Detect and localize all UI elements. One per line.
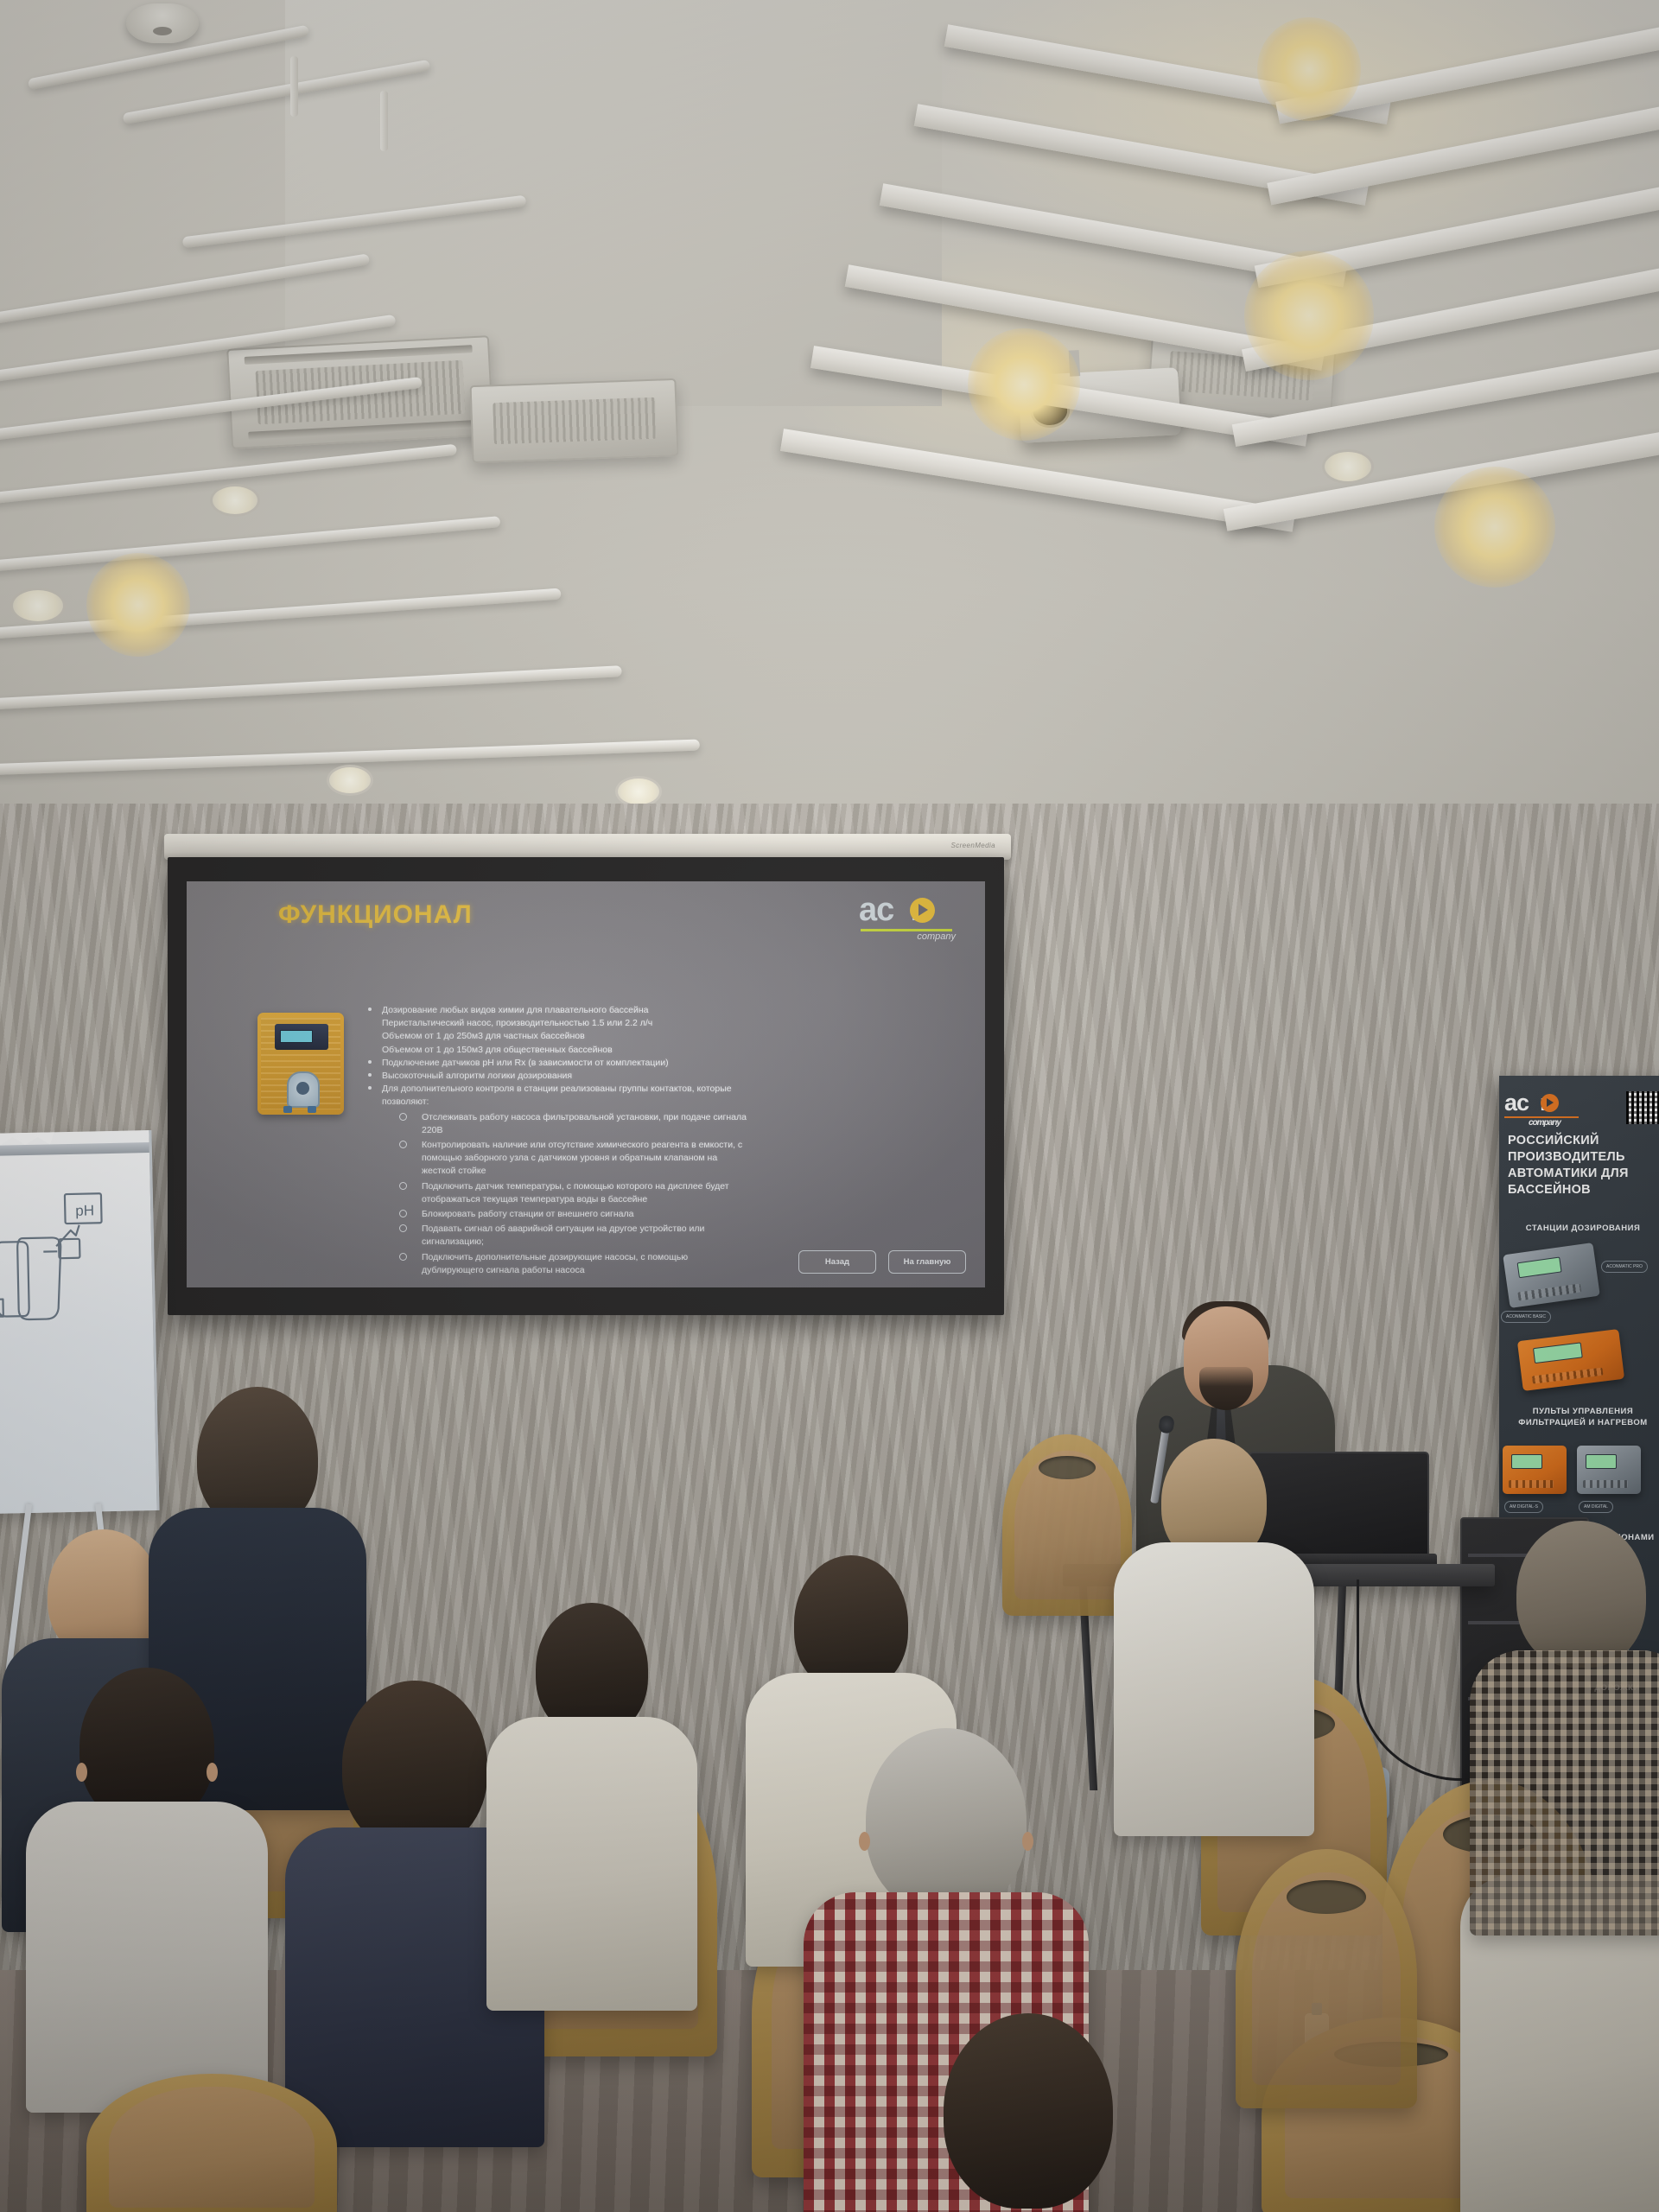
flipchart: pH	[0, 1130, 160, 1514]
slide-home-button[interactable]: На главную	[888, 1250, 966, 1274]
ceiling	[0, 0, 1659, 864]
ceiling-spotlight	[1244, 251, 1374, 380]
audience-ear	[1022, 1832, 1033, 1851]
slide-bullet-line: Отслеживать работу насоса фильтровальной…	[422, 1111, 961, 1124]
product-display	[1586, 1454, 1617, 1469]
bullet-circle-icon	[399, 1113, 407, 1121]
acon-logo: ac n company	[859, 893, 956, 942]
slide-bullet-line: 220В	[422, 1124, 961, 1137]
product-display	[1533, 1343, 1583, 1363]
slide-bullet-line: Для дополнительного контроля в станции р…	[382, 1083, 961, 1096]
bullet-circle-icon	[399, 1141, 407, 1148]
screen-frame: ФУНКЦИОНАЛ ac n company Дозирование любы…	[168, 857, 1004, 1315]
recessed-downlight	[10, 588, 66, 624]
ceiling-ribbon	[1267, 104, 1659, 205]
banner-logo-play-icon	[1541, 1094, 1559, 1112]
ceiling-slat-post	[290, 56, 298, 117]
product-buttons	[1583, 1480, 1628, 1488]
recessed-downlight	[615, 776, 662, 807]
recessed-downlight	[1322, 449, 1374, 484]
slide-bullet-line: Блокировать работу станции от внешнего с…	[422, 1208, 961, 1221]
slide-bullet-line: Подавать сигнал об аварийной ситуации на…	[422, 1223, 961, 1236]
bullet-disc-icon	[368, 1060, 372, 1064]
audience-ear	[859, 1832, 870, 1851]
slide-bullet-line: позволяют:	[382, 1096, 961, 1109]
audience-body	[26, 1802, 268, 2113]
slide-bullet-line: Контролировать наличие или отсутствие хи…	[422, 1139, 961, 1152]
chair-back-cutout	[1287, 1880, 1366, 1914]
peristaltic-pump-icon	[287, 1071, 320, 1108]
slide-bullet-line: Подключение датчиков pH или Rx (в зависи…	[382, 1057, 961, 1070]
banner-product-am-digital	[1577, 1446, 1641, 1494]
audience-head	[944, 2013, 1113, 2209]
flipchart-sketch: pH	[0, 1182, 156, 1471]
screen-roller-casing: ScreenMedia	[164, 834, 1011, 860]
ceiling-slat	[0, 588, 562, 642]
bullet-disc-icon	[368, 1007, 372, 1011]
device-lcd-display	[280, 1030, 313, 1043]
audience-head	[866, 1728, 1027, 1913]
slide-bullet-line: Объемом от 1 до 150м3 для общественных б…	[382, 1044, 961, 1057]
slide-bullet-line: Высокоточный алгоритм логики дозирования	[382, 1070, 961, 1083]
product-buttons	[1517, 1283, 1581, 1300]
presentation-slide: ФУНКЦИОНАЛ ac n company Дозирование любы…	[187, 881, 985, 1287]
banner-product-controller	[1517, 1329, 1624, 1391]
audience-body	[1470, 1650, 1659, 1935]
product-display	[1516, 1257, 1561, 1279]
projection-screen: ScreenMedia ФУНКЦИОНАЛ ac n company	[164, 834, 1011, 1322]
ceiling-spotlight	[1257, 17, 1361, 121]
bullet-circle-icon	[399, 1182, 407, 1190]
device-port	[283, 1106, 292, 1113]
audience-member	[26, 1668, 268, 2100]
slide-bullet: Подключение датчиков pH или Rx (в зависи…	[365, 1057, 961, 1070]
banner-logo-tagline: company	[1529, 1118, 1560, 1128]
ceiling-spotlight	[86, 553, 190, 657]
audience-head	[342, 1681, 487, 1850]
banner-logo: ac n company	[1504, 1090, 1554, 1116]
slide-bullet-line: Объемом от 1 до 250м3 для частных бассей…	[382, 1030, 961, 1043]
ceiling-spotlight	[968, 328, 1080, 441]
slide-back-button[interactable]: Назад	[798, 1250, 876, 1274]
slide-sub-bullet: Контролировать наличие или отсутствие хи…	[365, 1139, 961, 1179]
screen-brand-label: ScreenMedia	[950, 842, 995, 849]
banner-headline-line1: РОССИЙСКИЙ ПРОИЗВОДИТЕЛЬ	[1508, 1133, 1659, 1166]
qr-code-icon	[1626, 1091, 1659, 1124]
banner-chip-am-digital: АМ DIGITAL	[1579, 1501, 1613, 1513]
banner-product-dosing	[1503, 1243, 1600, 1308]
acon-logo-play-icon	[910, 898, 935, 923]
banner-headline-line2: АВТОМАТИКИ ДЛЯ БАССЕЙНОВ	[1508, 1166, 1659, 1198]
slide-nav-buttons: Назад На главную	[798, 1250, 966, 1274]
audience-head	[794, 1555, 908, 1692]
slide-bullet: Высокоточный алгоритм логики дозирования	[365, 1070, 961, 1083]
slide-bullet-list: Дозирование любых видов химии для плават…	[365, 1004, 961, 1277]
audience-member	[484, 1603, 700, 2009]
audience-body	[1114, 1542, 1314, 1836]
ceiling-slat-post	[380, 91, 388, 151]
slide-bullet: Дозирование любых видов химии для плават…	[365, 1004, 961, 1057]
recessed-downlight	[210, 484, 260, 517]
chair	[86, 2074, 337, 2212]
device-port	[308, 1106, 316, 1113]
slide-sub-bullet: Блокировать работу станции от внешнего с…	[365, 1208, 961, 1221]
acon-logo-tagline: company	[917, 931, 956, 942]
slide-bullet-line: жесткой стойке	[422, 1165, 961, 1178]
audience-ear	[207, 1763, 218, 1782]
slide-sub-bullet: Подключить датчик температуры, с помощью…	[365, 1180, 961, 1206]
audience-body	[486, 1717, 697, 2011]
bullet-circle-icon	[399, 1253, 407, 1261]
audience-member	[1106, 1439, 1322, 1827]
audience-member	[1469, 1521, 1659, 1927]
banner-headline: РОССИЙСКИЙ ПРОИЗВОДИТЕЛЬ АВТОМАТИКИ ДЛЯ …	[1508, 1133, 1659, 1198]
hvac-grille	[493, 397, 657, 445]
slide-bullet-line: сигнализацию;	[422, 1236, 961, 1249]
ceiling-spotlight	[1434, 467, 1555, 588]
chair-pad	[109, 2087, 315, 2207]
smoke-detector-icon	[126, 3, 199, 43]
slide-sub-bullet: Подавать сигнал об аварийной ситуации на…	[365, 1223, 961, 1249]
recessed-downlight	[327, 765, 373, 796]
bullet-circle-icon	[399, 1224, 407, 1232]
slide-bullet-line: Подключить датчик температуры, с помощью…	[422, 1180, 961, 1193]
hvac-cassette-right	[470, 378, 679, 463]
slide-bullet-line: помощью заборного узла с датчиком уровня…	[422, 1152, 961, 1165]
banner-chip-aconmatic-pro: ACONMATIC PRO	[1601, 1261, 1648, 1273]
audience-ear	[76, 1763, 87, 1782]
product-buttons	[1532, 1367, 1604, 1383]
slide-title: ФУНКЦИОНАЛ	[278, 900, 473, 930]
flipchart-clip	[0, 1142, 149, 1156]
banner-section-dosing: СТАНЦИИ ДОЗИРОВАНИЯ	[1506, 1223, 1659, 1234]
bullet-circle-icon	[399, 1210, 407, 1217]
slide-bullet-line: отображаться текущая температура воды в …	[422, 1193, 961, 1206]
slide-bullet-line: Перистальтический насос, производительно…	[382, 1017, 961, 1030]
ceiling-slat	[0, 665, 622, 711]
bullet-disc-icon	[368, 1073, 372, 1077]
slide-sub-bullet: Отслеживать работу насоса фильтровальной…	[365, 1111, 961, 1137]
flipchart-ph-label: pH	[75, 1202, 94, 1218]
ceiling-ribbon	[780, 429, 1296, 532]
bullet-disc-icon	[368, 1086, 372, 1090]
ceiling-slat	[0, 516, 500, 575]
flipchart-torn-edge	[0, 1130, 55, 1146]
chair	[1236, 1849, 1417, 2108]
audience-member	[873, 2013, 1184, 2212]
slide-bullet: Для дополнительного контроля в станции р…	[365, 1083, 961, 1109]
photo-scene: ScreenMedia ФУНКЦИОНАЛ ac n company	[0, 0, 1659, 2212]
audience-head	[1516, 1521, 1646, 1668]
dosing-station-photo	[257, 1013, 344, 1115]
slide-bullet-line: Дозирование любых видов химии для плават…	[382, 1004, 961, 1017]
